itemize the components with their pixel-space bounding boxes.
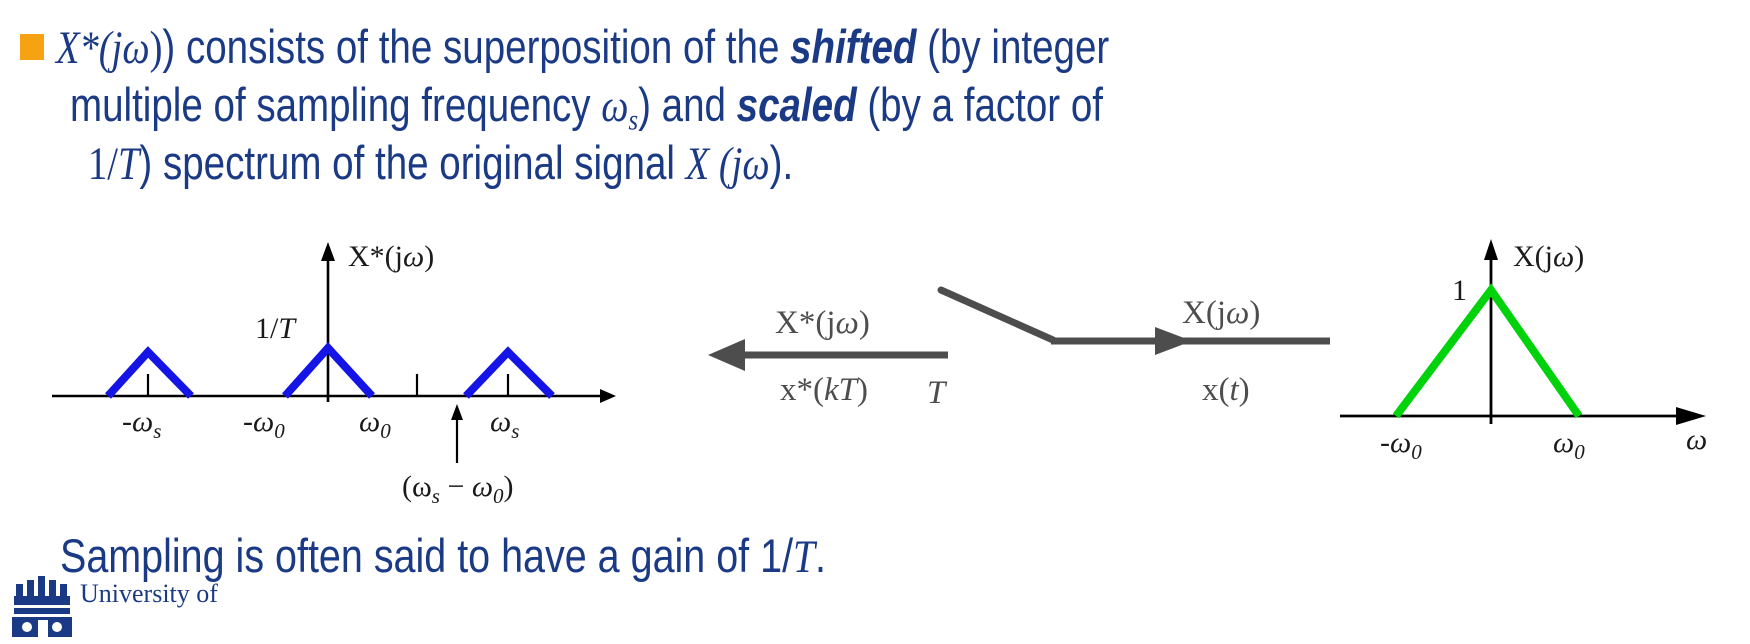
left-chart-x-axis-arrowhead [600, 389, 616, 403]
left-chart-xtick-2: ω0 [359, 405, 391, 443]
left-chart-xtick-3: ωs [490, 405, 519, 443]
right-chart-ylabel: 1 [1452, 274, 1467, 307]
bullet-l1-text-b: ) consists of the superposition of the [162, 20, 790, 73]
sampler-left-arrowhead [708, 339, 745, 371]
crest-left-dot [22, 622, 32, 632]
chart-original-spectrum: X(jω) 1 -ω0 ω0 ω [1340, 239, 1707, 464]
bullet-l2-text-a: multiple of sampling frequency [70, 78, 601, 131]
right-chart-xtick-0: -ω0 [1380, 426, 1422, 464]
bullet-l3-text-d: ). [770, 136, 794, 189]
sampler-right-arrow-bottom-label: x(t) [1202, 372, 1250, 408]
bullet-l2-omega: ω [601, 80, 628, 132]
bullet-marker-icon [20, 34, 44, 60]
left-chart-xtick-1: -ω0 [243, 405, 285, 443]
chart-sampled-spectrum: X*(jω) 1/T -ωs -ω0 ω0 ωs (ωs − ω0) [52, 240, 616, 508]
bottom-text-b: . [815, 529, 826, 582]
right-chart-y-axis-arrowhead [1484, 239, 1498, 260]
left-chart-ylabel: 1/T [255, 312, 297, 345]
bullet-l1-bold: shifted [790, 20, 916, 73]
university-logo: University of [8, 570, 338, 644]
sampler-right-arrow-top-label: X(jω) [1182, 295, 1260, 331]
bullet-l3-text-b: ) spectrum of the original signal [139, 136, 685, 189]
sampler-right-arrowhead [1155, 327, 1192, 355]
bullet-l3-T: T [118, 138, 139, 190]
bullet-l1-text-c: (by integer [916, 20, 1109, 73]
right-chart-triangle [1396, 290, 1579, 416]
bullet-l2-omega-sub: s [628, 102, 638, 136]
bullet-l3-omega: ω [742, 138, 769, 190]
left-chart-triangle-neg-ws [108, 352, 191, 396]
left-chart-callout-arrowhead [451, 404, 463, 420]
bullet-l2-text-b: ) and [638, 78, 737, 131]
sampler-block: X*(jω) x*(kT) T X(jω) x(t) [708, 290, 1330, 411]
bullet-l1-omega: ω [122, 22, 149, 74]
sampler-left-arrow-bottom-label: x*(kT) [780, 372, 868, 408]
right-chart-title: X(jω) [1513, 240, 1584, 273]
bullet-l2-bold: scaled [737, 78, 857, 131]
right-chart-xaxis-label: ω [1686, 423, 1707, 456]
bullet-l3-frac: 1/ [88, 138, 118, 190]
right-chart-xtick-1: ω0 [1553, 426, 1585, 464]
bullet-l2-text-c: (by a factor of [857, 78, 1103, 131]
bullet-l3-text-c: (j [709, 138, 742, 190]
left-chart-y-axis-arrowhead [321, 242, 335, 261]
diagram-svg: X*(jω) 1/T -ωs -ω0 ω0 ωs (ωs − ω0) X*(jω… [0, 228, 1750, 528]
left-chart-title: X*(jω) [348, 240, 434, 273]
bullet-line-1: X*(jω)) consists of the superposition of… [56, 18, 1109, 77]
bullet-l3-X: X [686, 138, 710, 190]
bottom-text-T: T [793, 531, 815, 583]
university-crest-icon [8, 570, 78, 640]
university-name-line1: University of [80, 580, 218, 607]
sampler-left-arrow-top-label: X*(jω) [775, 305, 870, 341]
crest-gate [38, 620, 48, 637]
crest-right-dot [52, 622, 62, 632]
left-chart-xtick-0: -ωs [122, 405, 161, 443]
left-chart-annotation: (ωs − ω0) [402, 470, 514, 508]
sampler-switch-blade [941, 290, 1053, 340]
sampler-switch-period-label: T [927, 375, 948, 411]
slide-canvas: X*(jω)) consists of the superposition of… [0, 0, 1750, 644]
bullet-l1-math-a: X*(j [56, 22, 122, 74]
bullet-line-3: 1/T) spectrum of the original signal X (… [88, 134, 793, 193]
sampling-diagram: X*(jω) 1/T -ωs -ω0 ω0 ωs (ωs − ω0) X*(jω… [0, 228, 1750, 528]
bullet-l1-paren: ) [150, 22, 163, 74]
